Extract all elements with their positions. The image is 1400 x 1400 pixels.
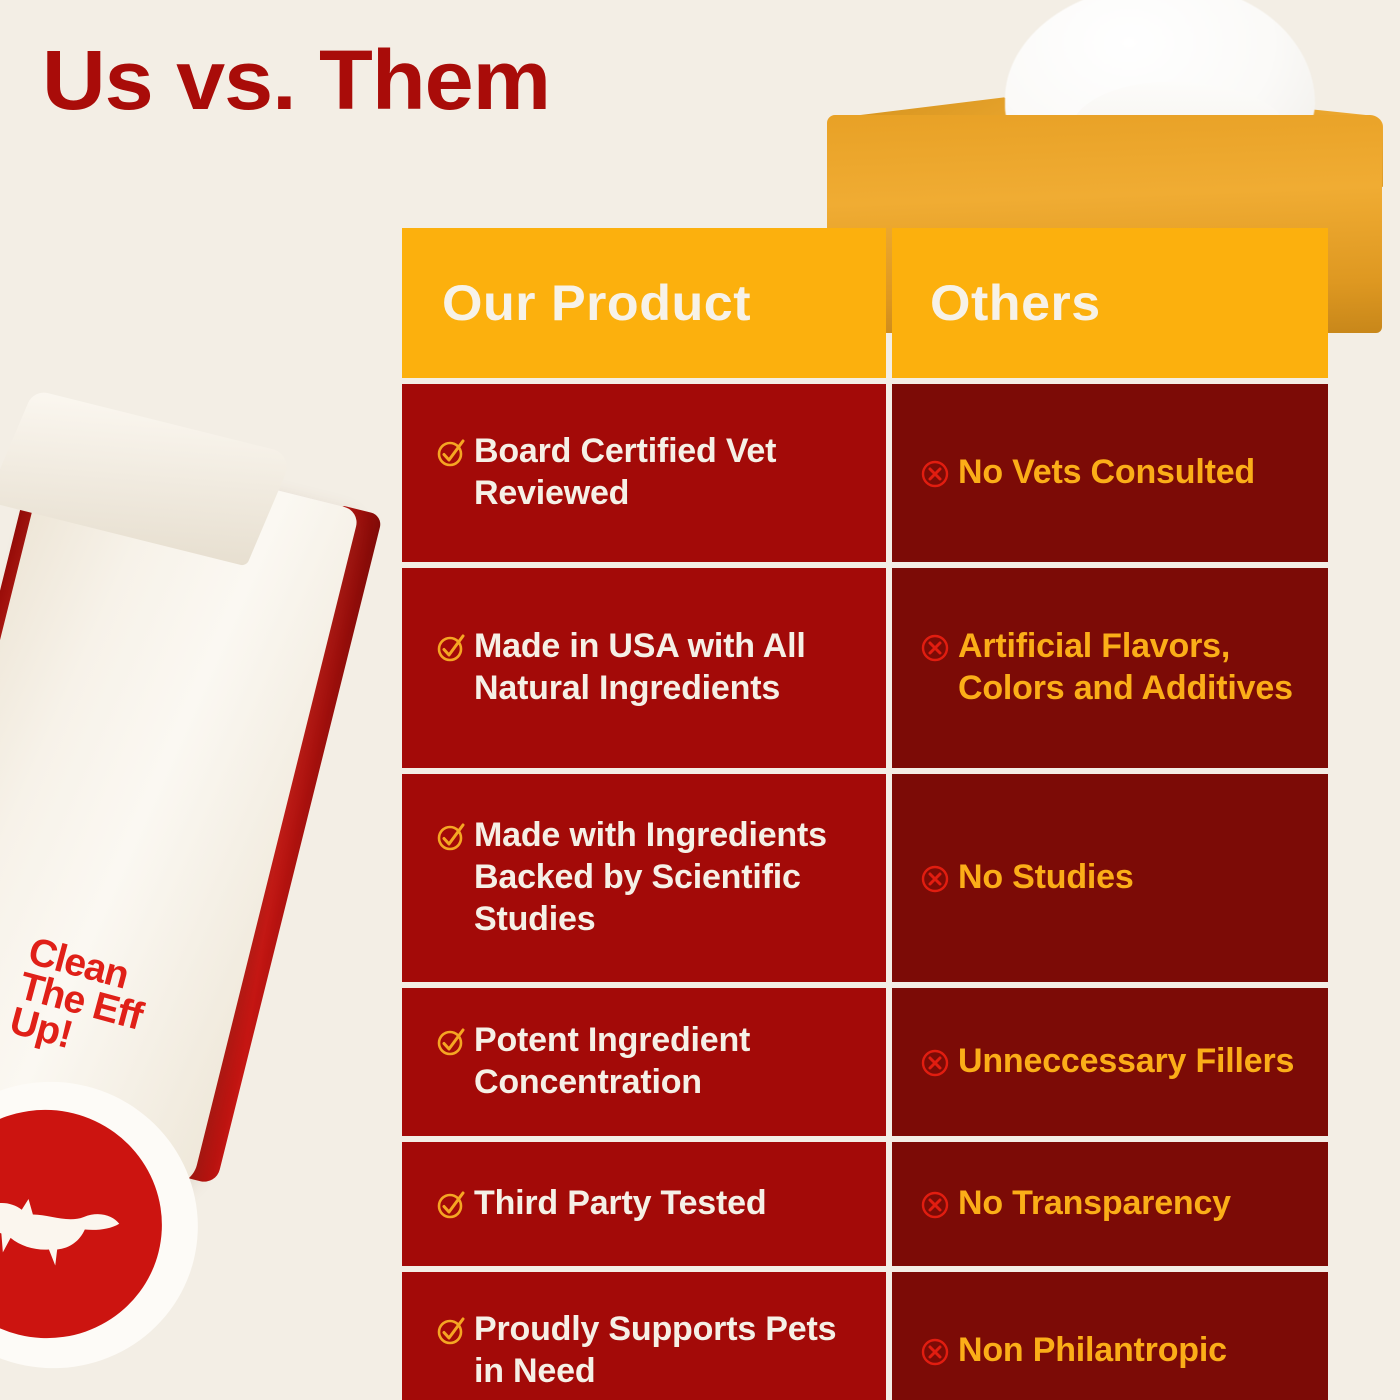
cell-our-product: Proudly Supports Pets in Need bbox=[402, 1272, 886, 1400]
circled-check-icon bbox=[436, 1027, 466, 1057]
package-left-edge bbox=[0, 459, 77, 1161]
package-logo-halo bbox=[0, 1051, 228, 1399]
circled-x-icon bbox=[920, 633, 950, 663]
circled-x-icon bbox=[920, 864, 950, 894]
feature-label: Board Certified Vet Reviewed bbox=[474, 431, 858, 515]
feature-item: Non Philantropic bbox=[920, 1330, 1227, 1372]
feature-label: No Transparency bbox=[958, 1183, 1231, 1225]
cell-others: Unneccessary Fillers bbox=[892, 988, 1328, 1136]
cell-others: Non Philantropic bbox=[892, 1272, 1328, 1400]
feature-item: Third Party Tested bbox=[436, 1183, 766, 1225]
package-right-edge bbox=[173, 505, 383, 1185]
feature-label: Proudly Supports Pets in Need bbox=[474, 1309, 858, 1393]
cell-others: Artificial Flavors, Colors and Additives bbox=[892, 568, 1328, 768]
header-label-our-product: Our Product bbox=[442, 278, 751, 328]
feature-item: Board Certified Vet Reviewed bbox=[436, 431, 858, 515]
feature-label: Non Philantropic bbox=[958, 1330, 1227, 1372]
cell-others: No Vets Consulted bbox=[892, 384, 1328, 562]
feature-item: Unneccessary Fillers bbox=[920, 1041, 1294, 1083]
package-logo-disc bbox=[0, 1085, 186, 1362]
package-slogan: Clean The Eff Up! bbox=[6, 934, 155, 1070]
cell-our-product: Potent Ingredient Concentration bbox=[402, 988, 886, 1136]
comparison-table: Our Product Others Board Certified Vet R… bbox=[402, 228, 1328, 1400]
our-product-photo: Clean The Eff Up! or dirty dogs 8cm (8in… bbox=[0, 392, 410, 1232]
circled-check-icon bbox=[436, 633, 466, 663]
header-cell-our-product: Our Product bbox=[402, 228, 886, 378]
circled-check-icon bbox=[436, 438, 466, 468]
table-row: Potent Ingredient Concentration Unnecces… bbox=[402, 988, 1328, 1136]
feature-item: No Studies bbox=[920, 857, 1134, 899]
package-badge: or dirty dogs bbox=[0, 1369, 89, 1400]
table-row: Proudly Supports Pets in Need Non Philan… bbox=[402, 1272, 1328, 1400]
circled-x-icon bbox=[920, 1190, 950, 1220]
feature-item: Made with Ingredients Backed by Scientif… bbox=[436, 815, 858, 940]
dog-logo-icon bbox=[0, 1157, 131, 1291]
feature-item: Proudly Supports Pets in Need bbox=[436, 1309, 858, 1393]
cell-our-product: Board Certified Vet Reviewed bbox=[402, 384, 886, 562]
circled-x-icon bbox=[920, 1048, 950, 1078]
feature-label: Potent Ingredient Concentration bbox=[474, 1020, 858, 1104]
table-row: Made with Ingredients Backed by Scientif… bbox=[402, 774, 1328, 982]
table-row: Made in USA with All Natural Ingredients… bbox=[402, 568, 1328, 768]
package-body bbox=[0, 434, 360, 1190]
table-header-row: Our Product Others bbox=[402, 228, 1328, 378]
header-label-others: Others bbox=[930, 278, 1101, 328]
feature-label: Unneccessary Fillers bbox=[958, 1041, 1294, 1083]
feature-label: Made with Ingredients Backed by Scientif… bbox=[474, 815, 858, 940]
header-cell-others: Others bbox=[892, 228, 1328, 378]
circled-check-icon bbox=[436, 822, 466, 852]
table-row: Board Certified Vet Reviewed No Vets Con… bbox=[402, 384, 1328, 562]
feature-label: No Vets Consulted bbox=[958, 452, 1255, 494]
competitor-pack-wipe-fold bbox=[1070, 82, 1285, 182]
feature-label: Artificial Flavors, Colors and Additives bbox=[958, 626, 1306, 710]
competitor-pack-right-lip bbox=[1215, 99, 1383, 187]
feature-item: Potent Ingredient Concentration bbox=[436, 1020, 858, 1104]
table-row: Third Party Tested No Transparency bbox=[402, 1142, 1328, 1266]
circled-check-icon bbox=[436, 1316, 466, 1346]
circled-check-icon bbox=[436, 1190, 466, 1220]
cell-our-product: Third Party Tested bbox=[402, 1142, 886, 1266]
cell-our-product: Made with Ingredients Backed by Scientif… bbox=[402, 774, 886, 982]
package-top-flap bbox=[0, 390, 294, 567]
cell-our-product: Made in USA with All Natural Ingredients bbox=[402, 568, 886, 768]
feature-item: No Vets Consulted bbox=[920, 452, 1255, 494]
feature-label: Third Party Tested bbox=[474, 1183, 766, 1225]
feature-item: Made in USA with All Natural Ingredients bbox=[436, 626, 858, 710]
circled-x-icon bbox=[920, 1337, 950, 1367]
feature-label: No Studies bbox=[958, 857, 1134, 899]
competitor-pack-wipe bbox=[1005, 0, 1315, 180]
feature-item: No Transparency bbox=[920, 1183, 1231, 1225]
cell-others: No Transparency bbox=[892, 1142, 1328, 1266]
cell-others: No Studies bbox=[892, 774, 1328, 982]
circled-x-icon bbox=[920, 459, 950, 489]
feature-label: Made in USA with All Natural Ingredients bbox=[474, 626, 858, 710]
page-title: Us vs. Them bbox=[42, 38, 550, 122]
competitor-pack-left-lip bbox=[827, 97, 1007, 189]
feature-item: Artificial Flavors, Colors and Additives bbox=[920, 626, 1306, 710]
